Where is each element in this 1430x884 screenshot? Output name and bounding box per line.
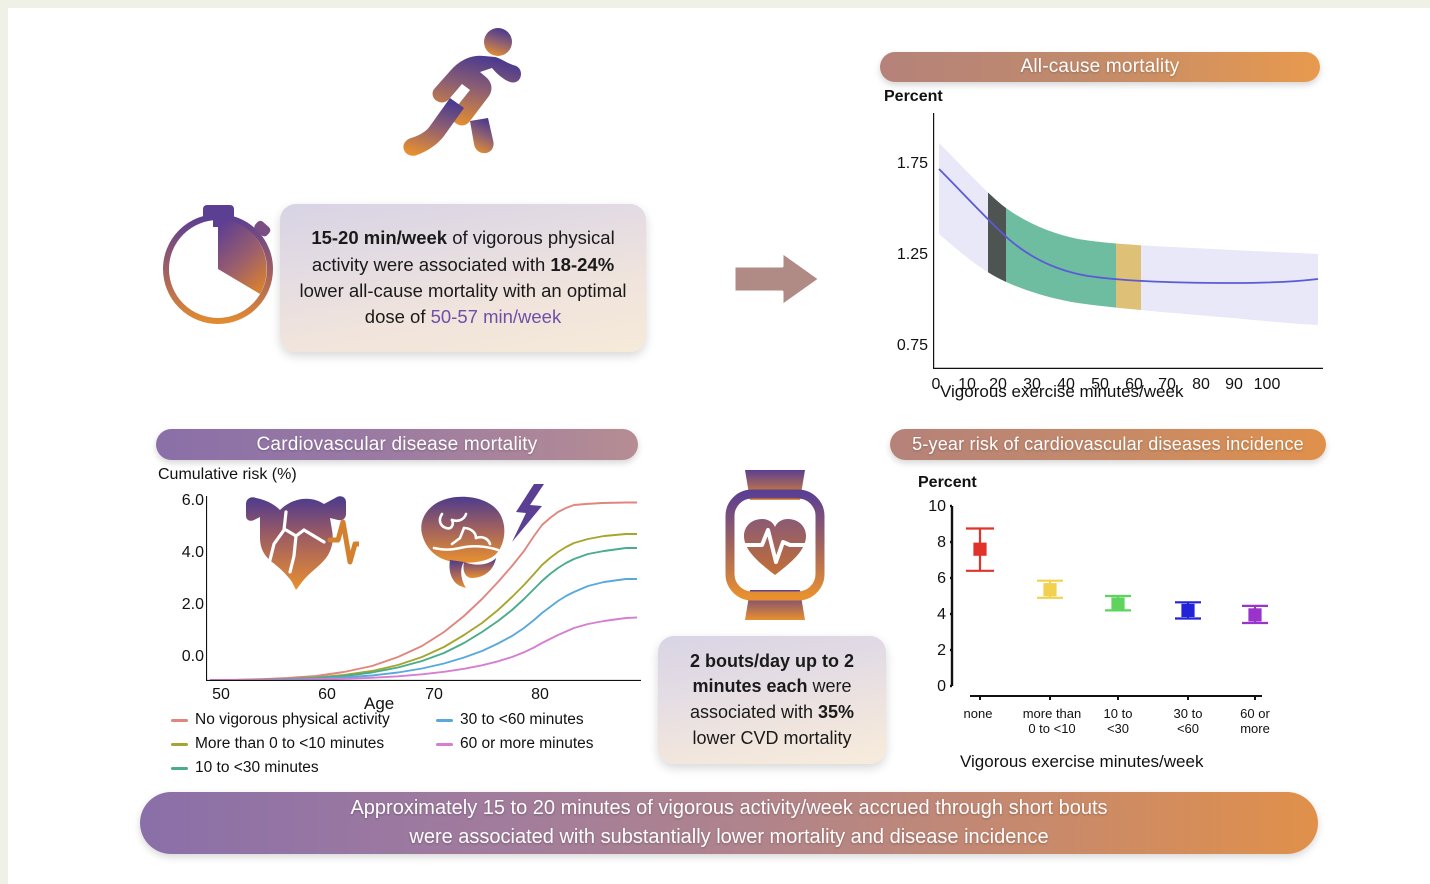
incidence-xtick-10-to-30-l1: 10 to (1088, 706, 1148, 721)
cvd-ytick-6.0: 6.0 (156, 492, 204, 510)
summary-banner-text: Approximately 15 to 20 minutes of vigoro… (350, 794, 1107, 852)
legend-swatch-more-than-0-to-10 (171, 743, 188, 746)
infographic-canvas: 15-20 min/week of vigorous physical acti… (8, 8, 1430, 884)
incidence-ytick-8: 8 (898, 534, 946, 552)
cvd-xtick-80: 80 (525, 686, 555, 704)
cvd-legend-item-30-to-60[interactable]: 30 to <60 minutes (436, 708, 584, 732)
all-cause-xtick-90: 90 (1219, 376, 1249, 394)
callout-middle-text: 2 bouts/day up to 2 minutes each were as… (674, 649, 870, 751)
callout-middle-seg-3: lower CVD mortality (692, 728, 851, 748)
incidence-xtick-none-l1: none (948, 706, 1008, 721)
callout-top-text: 15-20 min/week of vigorous physical acti… (296, 225, 630, 330)
legend-label-10-to-30: 10 to <30 minutes (195, 759, 319, 777)
incidence-ytick-10: 10 (898, 498, 946, 516)
all-cause-band-minimum (988, 113, 1006, 369)
incidence-xtick-more-than-0-to-10-l2: 0 to <10 (1006, 721, 1098, 736)
panel-title-all-cause-mortality-label: All-cause mortality (1020, 56, 1179, 78)
callout-middle-statistic: 2 bouts/day up to 2 minutes each were as… (658, 636, 886, 764)
incidence-ytick-6: 6 (898, 570, 946, 588)
summary-banner: Approximately 15 to 20 minutes of vigoro… (140, 792, 1318, 854)
cvd-line-60-or-more (210, 618, 637, 681)
incidence-xtick-60-or-more: 60 or more (1225, 706, 1285, 736)
all-cause-xtick-100: 100 (1250, 376, 1284, 394)
cvd-ytick-2.0: 2.0 (156, 596, 204, 614)
legend-swatch-60-or-more (436, 743, 453, 746)
incidence-ytick-2: 2 (898, 642, 946, 660)
callout-top-seg-5: min/week (478, 306, 561, 327)
legend-label-no-activity: No vigorous physical activity (195, 711, 390, 729)
summary-banner-line-1: Approximately 15 to 20 minutes of vigoro… (350, 794, 1107, 823)
callout-top-seg-4: 50-57 (431, 306, 478, 327)
incidence-ytick-0: 0 (898, 678, 946, 696)
incidence-xtick-more-than-0-to-10-l1: more than (1006, 706, 1098, 721)
chart-cvd-mortality: Cumulative risk (%) 6.0 4.0 2.0 0.0 (156, 466, 646, 696)
cvd-y-axis-label: Cumulative risk (%) (158, 466, 297, 484)
panel-title-cvd-mortality: Cardiovascular disease mortality (156, 429, 638, 460)
all-cause-y-axis-label: Percent (884, 88, 943, 106)
panel-title-cvd-incidence-label: 5-year risk of cardiovascular diseases i… (912, 434, 1304, 455)
cvd-legend-item-60-or-more[interactable]: 60 or more minutes (436, 732, 594, 756)
incidence-xtick-30-to-60-l2: <60 (1158, 721, 1218, 736)
running-person-icon (388, 26, 538, 156)
all-cause-x-axis-title: Vigorous exercise minutes/week (940, 382, 1183, 402)
incidence-point-30-to-60 (1175, 602, 1201, 618)
incidence-plot-area (950, 504, 1270, 700)
legend-swatch-no-activity (171, 719, 188, 722)
legend-swatch-10-to-30 (171, 767, 188, 770)
cvd-legend-item-more-than-0-to-10[interactable]: More than 0 to <10 minutes (171, 732, 384, 756)
cvd-ytick-0.0: 0.0 (156, 648, 204, 666)
cvd-line-no-activity (210, 503, 637, 681)
incidence-y-axis-label: Percent (918, 474, 977, 492)
stopwatch-icon (156, 193, 286, 333)
cvd-plot-area (206, 496, 641, 681)
smartwatch-heartrate-icon (720, 470, 830, 620)
callout-top-seg-0: 15-20 min/week (311, 227, 447, 248)
chart-all-cause-mortality: Percent 1.75 1.25 0.75 (880, 88, 1330, 398)
legend-label-more-than-0-to-10: More than 0 to <10 minutes (195, 735, 384, 753)
incidence-xtick-none: none (948, 706, 1008, 721)
incidence-xtick-10-to-30: 10 to <30 (1088, 706, 1148, 736)
panel-title-cvd-incidence: 5-year risk of cardiovascular diseases i… (890, 429, 1326, 460)
cvd-xtick-60: 60 (312, 686, 342, 704)
incidence-xtick-more-than-0-to-10: more than 0 to <10 (1006, 706, 1098, 736)
incidence-point-60-or-more (1242, 606, 1268, 623)
legend-swatch-30-to-60 (436, 719, 453, 722)
legend-label-60-or-more: 60 or more minutes (460, 735, 594, 753)
incidence-xtick-30-to-60-l1: 30 to (1158, 706, 1218, 721)
incidence-xtick-30-to-60: 30 to <60 (1158, 706, 1218, 736)
all-cause-xtick-80: 80 (1186, 376, 1216, 394)
panel-title-all-cause-mortality: All-cause mortality (880, 52, 1320, 82)
all-cause-plot-area (933, 113, 1323, 369)
chart-cvd-incidence: Percent 10 8 6 4 2 0 (898, 474, 1328, 764)
cvd-legend-item-no-activity[interactable]: No vigorous physical activity (171, 708, 390, 732)
right-arrow-icon (730, 248, 826, 310)
cvd-xtick-70: 70 (419, 686, 449, 704)
cvd-ytick-4.0: 4.0 (156, 544, 204, 562)
callout-top-statistic: 15-20 min/week of vigorous physical acti… (280, 204, 646, 352)
cvd-line-30-to-60 (210, 579, 637, 680)
incidence-point-none (966, 529, 994, 571)
incidence-ytick-4: 4 (898, 606, 946, 624)
callout-middle-seg-2: 35% (818, 702, 854, 722)
all-cause-ytick-0.75: 0.75 (880, 337, 928, 355)
cvd-xtick-50: 50 (206, 686, 236, 704)
all-cause-ytick-1.75: 1.75 (880, 155, 928, 173)
incidence-xtick-60-or-more-l1: 60 or (1225, 706, 1285, 721)
incidence-point-10-to-30 (1105, 596, 1131, 610)
all-cause-ytick-1.25: 1.25 (880, 246, 928, 264)
callout-top-seg-2: 18-24% (550, 254, 614, 275)
cvd-line-more-than-0-to-10 (210, 534, 637, 680)
panel-title-cvd-mortality-label: Cardiovascular disease mortality (257, 434, 538, 456)
incidence-xtick-10-to-30-l2: <30 (1088, 721, 1148, 736)
incidence-point-more-than-0-to-10 (1037, 581, 1063, 598)
incidence-xtick-60-or-more-l2: more (1225, 721, 1285, 736)
legend-label-30-to-60: 30 to <60 minutes (460, 711, 584, 729)
all-cause-band-optimal (1116, 113, 1141, 369)
all-cause-band-range (1006, 113, 1116, 369)
cvd-legend-item-10-to-30[interactable]: 10 to <30 minutes (171, 756, 319, 780)
incidence-x-axis-title: Vigorous exercise minutes/week (960, 752, 1203, 772)
summary-banner-line-2: were associated with substantially lower… (350, 823, 1107, 852)
cvd-line-10-to-30 (210, 548, 637, 680)
